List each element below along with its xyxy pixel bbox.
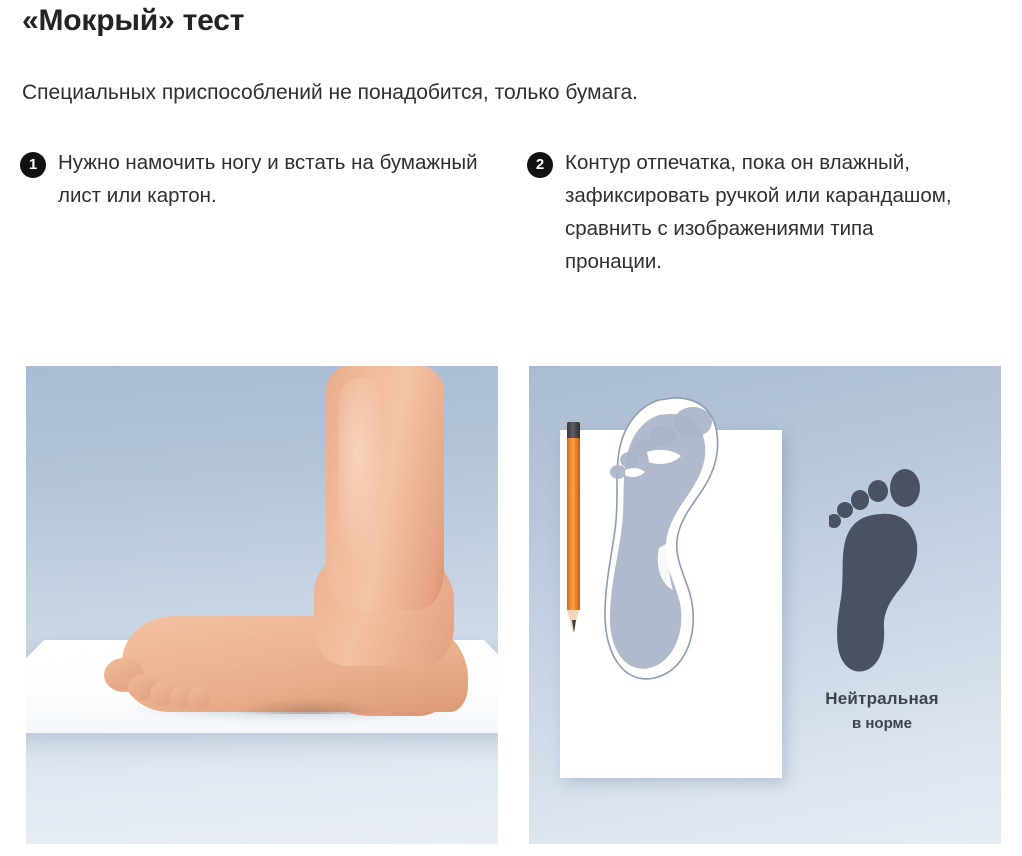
icon-toe-4 (837, 502, 853, 518)
icon-sole (837, 514, 917, 672)
neutral-footprint-caption: Нейтральная в норме (787, 688, 977, 734)
step-text-2: Контур отпечатка, пока он влажный, зафик… (565, 146, 965, 278)
icon-toe-2 (868, 480, 888, 502)
step-item-2: 2 Контур отпечатка, пока он влажный, заф… (527, 146, 1007, 278)
neutral-footprint-icon (829, 466, 925, 678)
lower-leg (326, 366, 444, 610)
print-toe-1 (674, 407, 712, 437)
article-page: «Мокрый» тест Специальных приспособлений… (0, 0, 1022, 856)
pencil-body (567, 438, 580, 610)
page-subtitle: Специальных приспособлений не понадобитс… (22, 78, 638, 108)
wet-footprint-svg (581, 388, 749, 700)
pencil-lead-tip (572, 620, 576, 633)
figure-foot-on-paper (26, 366, 498, 844)
pencil-icon (567, 422, 580, 640)
step-number-badge-1: 1 (20, 152, 46, 178)
icon-toe-1 (890, 469, 920, 507)
foot-toes (104, 652, 212, 714)
print-toe-4 (620, 452, 638, 468)
step-text-1: Нужно намочить ногу и встать на бумажный… (58, 146, 478, 212)
caption-main: Нейтральная (787, 688, 977, 710)
step-item-1: 1 Нужно намочить ногу и встать на бумажн… (20, 146, 500, 212)
print-toe-2 (650, 426, 676, 446)
steps-list: 1 Нужно намочить ногу и встать на бумажн… (0, 146, 1022, 326)
step-number-badge-2: 2 (527, 152, 553, 178)
toe-5 (188, 688, 210, 709)
page-title: «Мокрый» тест (22, 2, 244, 40)
print-toe-5 (610, 465, 626, 479)
caption-sub: в норме (787, 714, 977, 734)
wet-footprint-trace (581, 388, 749, 700)
icon-toe-5 (829, 514, 841, 528)
neutral-footprint-svg (829, 466, 925, 678)
figure-traced-footprint: Нейтральная в норме (529, 366, 1001, 844)
icon-toe-3 (851, 490, 869, 510)
